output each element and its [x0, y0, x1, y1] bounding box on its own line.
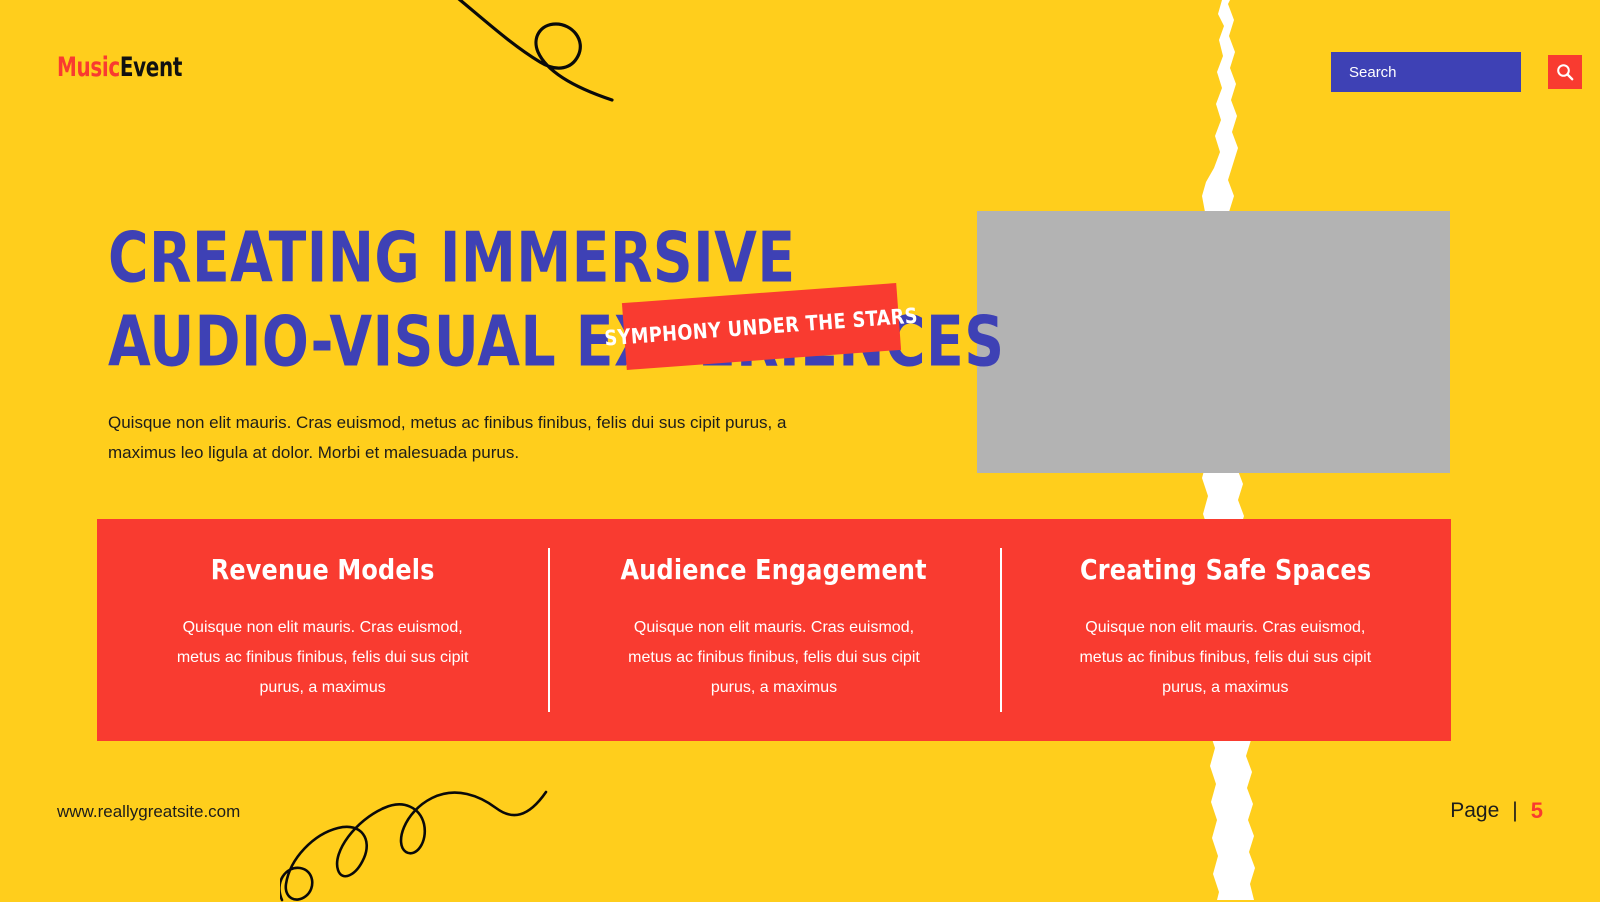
feature-column-3: Creating Safe Spaces Quisque non elit ma…	[1000, 519, 1451, 741]
brand-logo[interactable]: MusicEvent	[57, 52, 182, 83]
footer-website-url[interactable]: www.reallygreatsite.com	[57, 802, 240, 822]
search-input[interactable]	[1331, 52, 1548, 92]
squiggle-line-top	[440, 0, 640, 103]
search-icon	[1555, 62, 1575, 82]
squiggle-line-bottom	[280, 762, 550, 902]
page-separator: |	[1512, 799, 1517, 823]
feature-column-1: Revenue Models Quisque non elit mauris. …	[97, 519, 548, 741]
page-label: Page	[1450, 799, 1499, 823]
search-bar[interactable]	[1331, 52, 1521, 92]
logo-text-primary: Music	[57, 52, 120, 83]
footer-page-indicator: Page | 5	[1450, 798, 1543, 824]
feature-card: Revenue Models Quisque non elit mauris. …	[97, 519, 1451, 741]
feature-title-1: Revenue Models	[131, 553, 514, 586]
page-number: 5	[1531, 798, 1543, 824]
hero-description: Quisque non elit mauris. Cras euismod, m…	[108, 408, 808, 468]
event-badge-label: SYMPHONY UNDER THE STARS	[604, 303, 919, 350]
feature-title-3: Creating Safe Spaces	[1034, 553, 1417, 586]
hero-image-placeholder	[977, 211, 1450, 473]
logo-text-secondary: Event	[120, 52, 182, 83]
feature-text-3: Quisque non elit mauris. Cras euismod, m…	[1070, 613, 1380, 703]
feature-text-2: Quisque non elit mauris. Cras euismod, m…	[619, 613, 929, 703]
feature-title-2: Audience Engagement	[582, 553, 965, 586]
feature-text-1: Quisque non elit mauris. Cras euismod, m…	[168, 613, 478, 703]
search-button[interactable]	[1548, 55, 1582, 89]
feature-column-2: Audience Engagement Quisque non elit mau…	[548, 519, 999, 741]
